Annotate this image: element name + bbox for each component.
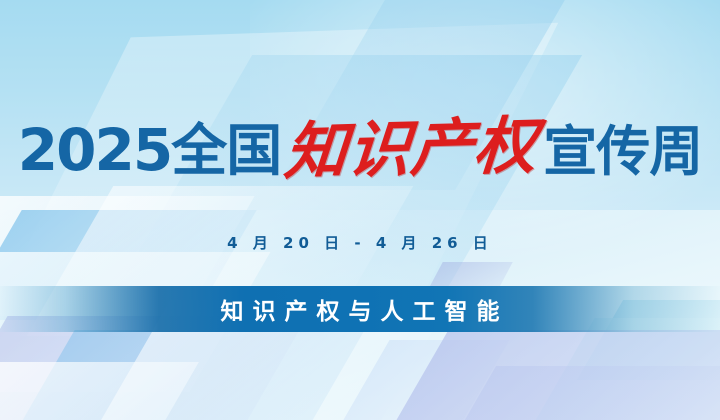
headline-year: 2025 <box>18 121 171 179</box>
subtitle-text: 知识产权与人工智能 <box>212 292 509 326</box>
ip-week-poster: 2025全国知识产权宣传周 4 月 20 日 - 4 月 26 日 知识产权与人… <box>0 0 720 420</box>
headline-tail: 宣传周 <box>543 125 702 179</box>
lower-right-slab-shape-1 <box>368 330 720 420</box>
lower-right-slab-shape-3 <box>525 318 720 420</box>
lower-right-slab-shape-5 <box>444 366 720 420</box>
poster-headline: 2025全国知识产权宣传周 <box>0 118 720 180</box>
lower-left-slab-shape-2 <box>5 330 364 420</box>
background-decoration <box>0 0 720 420</box>
subtitle-band: 知识产权与人工智能 <box>0 286 720 332</box>
date-range-text: 4 月 20 日 - 4 月 26 日 <box>0 232 720 253</box>
headline-scope: 全国 <box>171 124 281 180</box>
lower-right-slab-shape-2 <box>314 340 509 420</box>
lower-left-slab-shape-4 <box>0 362 199 420</box>
headline-highlight: 知识产权 <box>282 115 540 184</box>
